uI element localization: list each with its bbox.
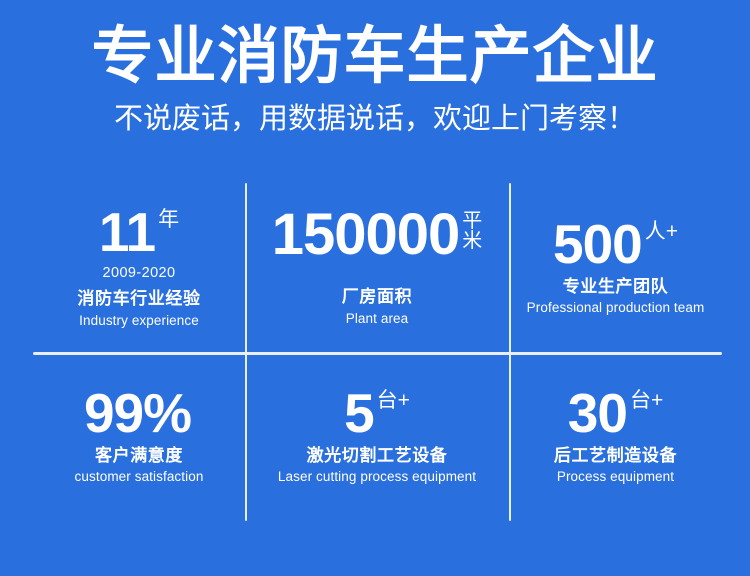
stat-label-en: Industry experience — [79, 313, 199, 330]
stat-cell-process-equipment: 30 台+ 后工艺制造设备 Process equipment — [509, 352, 722, 521]
divider-vertical-right — [509, 183, 511, 521]
stat-label-cn: 客户满意度 — [95, 445, 183, 466]
stat-label-cn: 激光切割工艺设备 — [307, 445, 448, 466]
divider-vertical-left — [245, 183, 247, 521]
stat-suffix-top: 平 — [462, 211, 482, 231]
stat-label-cn: 后工艺制造设备 — [554, 445, 677, 466]
stat-suffix: 年 — [155, 206, 179, 230]
stat-cell-production-team: 500 人+ 专业生产团队 Professional production te… — [509, 183, 722, 352]
stat-label-en: Professional production team — [527, 300, 705, 317]
stat-number: 500 人+ — [553, 218, 678, 270]
stat-label-cn: 消防车行业经验 — [77, 288, 200, 309]
stat-value: 99% — [84, 387, 191, 439]
stat-label-en: Process equipment — [557, 469, 674, 486]
stat-number: 11 年 — [99, 206, 179, 258]
stat-suffix: 台+ — [627, 387, 663, 411]
stat-value: 500 — [553, 218, 642, 270]
stat-suffix: 平 米 — [459, 207, 482, 251]
stat-label-cn: 厂房面积 — [342, 286, 412, 307]
poster-header: 专业消防车生产企业 不说废话，用数据说话，欢迎上门考察！ — [0, 0, 750, 137]
stat-cell-industry-experience: 11 年 2009-2020 消防车行业经验 Industry experien… — [33, 183, 245, 352]
stat-suffix: 人+ — [642, 218, 678, 242]
stat-cell-customer-satisfaction: 99% 客户满意度 customer satisfaction — [33, 352, 245, 521]
stat-number: 99% — [84, 387, 194, 439]
stat-label-en: Plant area — [346, 311, 409, 328]
stat-suffix — [191, 387, 194, 390]
stat-number: 5 台+ — [344, 387, 410, 439]
page-subtitle: 不说废话，用数据说话，欢迎上门考察！ — [0, 90, 750, 137]
stat-value: 5 — [344, 387, 374, 439]
stat-suffix-bottom: 米 — [462, 231, 482, 251]
stats-row-bottom: 99% 客户满意度 customer satisfaction 5 台+ 激光切… — [33, 352, 722, 521]
stat-label-en: customer satisfaction — [75, 469, 204, 486]
stat-cell-plant-area: 150000 平 米 厂房面积 Plant area — [245, 183, 509, 352]
stat-suffix: 台+ — [374, 387, 410, 411]
page-title: 专业消防车生产企业 — [0, 0, 750, 90]
stat-label-en: Laser cutting process equipment — [278, 469, 476, 486]
stat-cell-laser-cutting-equipment: 5 台+ 激光切割工艺设备 Laser cutting process equi… — [245, 352, 509, 521]
stat-label-cn: 专业生产团队 — [563, 276, 669, 297]
stat-number: 150000 平 米 — [272, 207, 483, 262]
promo-poster: 专业消防车生产企业 不说废话，用数据说话，欢迎上门考察！ 11 年 2009-2… — [0, 0, 750, 576]
stat-value: 30 — [568, 387, 627, 439]
divider-horizontal — [33, 352, 722, 355]
stat-value: 11 — [99, 206, 155, 258]
stats-row-top: 11 年 2009-2020 消防车行业经验 Industry experien… — [33, 183, 722, 352]
stat-range: 2009-2020 — [103, 265, 176, 282]
stat-number: 30 台+ — [568, 387, 663, 439]
stat-value: 150000 — [272, 207, 460, 262]
